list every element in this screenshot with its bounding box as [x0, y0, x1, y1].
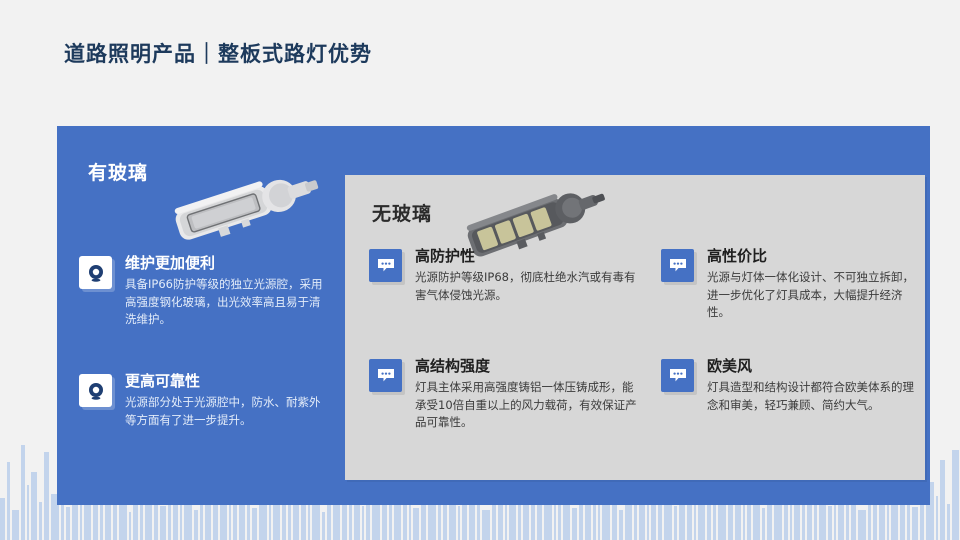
barcode-bar — [322, 512, 325, 540]
barcode-bar — [100, 504, 103, 540]
speech-bubble-icon — [661, 359, 694, 392]
barcode-bar — [194, 510, 198, 540]
feature-title: 高结构强度 — [415, 357, 644, 376]
barcode-bar — [713, 504, 716, 540]
feature-text: 高防护性 光源防护等级IP68，彻底杜绝水汽或有毒有害气体侵蚀光源。 — [415, 247, 637, 304]
barcode-bar — [518, 502, 521, 540]
barcode-bar — [858, 510, 866, 540]
barcode-bar — [389, 502, 392, 540]
feature-body: 光源部分处于光源腔中，防水、耐紫外等方面有了进一步提升。 — [125, 394, 329, 430]
location-ring-icon — [79, 374, 112, 407]
barcode-bar — [44, 452, 49, 540]
page-title: 道路照明产品｜整板式路灯优势 — [64, 38, 372, 68]
barcode-bar — [912, 507, 918, 540]
feature-body: 光源与灯体一体化设计、不可独立拆卸，进一步优化了灯具成本，大幅提升经济性。 — [707, 269, 921, 322]
barcode-bar — [544, 504, 552, 540]
feature-body: 具备IP66防护等级的独立光源腔，采用高强度钢化玻璃，出光效率高且易于清洗维护。 — [125, 276, 329, 329]
barcode-bar — [160, 506, 166, 540]
barcode-bar — [936, 496, 938, 540]
barcode-bar — [828, 506, 832, 540]
barcode-bar — [362, 506, 364, 540]
feature-text: 维护更加便利 具备IP66防护等级的独立光源腔，采用高强度钢化玻璃，出光效率高且… — [125, 254, 329, 329]
speech-bubble-icon — [369, 249, 402, 282]
barcode-bar — [273, 500, 280, 540]
feature-title: 欧美风 — [707, 357, 923, 376]
feature-card[interactable]: 高结构强度 灯具主体采用高强度铸铝一体压铸成形，能承受10倍自重以上的风力载荷，… — [369, 357, 644, 432]
left-column: 有玻璃 — [57, 126, 347, 505]
barcode-bar — [952, 450, 959, 540]
barcode-bar — [762, 508, 765, 540]
barcode-bar — [129, 512, 131, 540]
barcode-bar — [39, 502, 42, 540]
feature-body: 灯具主体采用高强度铸铝一体压铸成形，能承受10倍自重以上的风力载荷，有效保证产品… — [415, 379, 644, 432]
feature-card[interactable]: 维护更加便利 具备IP66防护等级的独立光源腔，采用高强度钢化玻璃，出光效率高且… — [79, 254, 329, 329]
barcode-bar — [21, 445, 25, 540]
barcode-bar — [0, 498, 5, 540]
feature-body: 光源防护等级IP68，彻底杜绝水汽或有毒有害气体侵蚀光源。 — [415, 269, 637, 305]
barcode-bar — [598, 500, 600, 540]
barcode-bar — [802, 502, 805, 540]
feature-title: 高性价比 — [707, 247, 921, 266]
comparison-panel: 有玻璃 — [57, 126, 930, 505]
barcode-bar — [301, 504, 306, 540]
barcode-bar — [7, 462, 10, 540]
feature-card[interactable]: 欧美风 灯具造型和结构设计都符合欧美体系的理念和审美，轻巧兼顾、简约大气。 — [661, 357, 923, 414]
feature-text: 欧美风 灯具造型和结构设计都符合欧美体系的理念和审美，轻巧兼顾、简约大气。 — [707, 357, 923, 414]
no-glass-panel: 无玻璃 — [345, 175, 925, 480]
barcode-bar — [31, 472, 37, 540]
barcode-bar — [229, 502, 231, 540]
barcode-bar — [413, 508, 419, 540]
street-lamp-with-glass-image — [157, 166, 327, 251]
location-ring-icon — [79, 256, 112, 289]
barcode-bar — [947, 504, 950, 540]
feature-card[interactable]: 高防护性 光源防护等级IP68，彻底杜绝水汽或有毒有害气体侵蚀光源。 — [369, 247, 637, 304]
right-section-label: 无玻璃 — [372, 199, 432, 226]
barcode-bar — [572, 508, 577, 540]
barcode-bar — [774, 500, 782, 540]
speech-bubble-icon — [369, 359, 402, 392]
feature-text: 更高可靠性 光源部分处于光源腔中，防水、耐紫外等方面有了进一步提升。 — [125, 372, 329, 429]
barcode-bar — [140, 500, 143, 540]
barcode-bar — [443, 500, 447, 540]
speech-bubble-icon — [661, 249, 694, 282]
barcode-bar — [458, 506, 460, 540]
feature-body: 灯具造型和结构设计都符合欧美体系的理念和审美，轻巧兼顾、简约大气。 — [707, 379, 923, 415]
feature-title: 高防护性 — [415, 247, 637, 266]
feature-title: 维护更加便利 — [125, 254, 329, 273]
feature-card[interactable]: 更高可靠性 光源部分处于光源腔中，防水、耐紫外等方面有了进一步提升。 — [79, 372, 329, 429]
barcode-bar — [252, 508, 257, 540]
barcode-bar — [12, 510, 19, 540]
barcode-bar — [887, 502, 889, 540]
left-section-label: 有玻璃 — [88, 158, 148, 185]
barcode-bar — [619, 510, 623, 540]
barcode-bar — [674, 506, 677, 540]
barcode-bar — [940, 460, 945, 540]
barcode-bar — [647, 502, 649, 540]
feature-text: 高结构强度 灯具主体采用高强度铸铝一体压铸成形，能承受10倍自重以上的风力载荷，… — [415, 357, 644, 432]
barcode-bar — [482, 510, 490, 540]
feature-card[interactable]: 高性价比 光源与灯体一体化设计、不可独立拆卸，进一步优化了灯具成本，大幅提升经济… — [661, 247, 921, 322]
feature-title: 更高可靠性 — [125, 372, 329, 391]
barcode-bar — [27, 485, 29, 540]
feature-text: 高性价比 光源与灯体一体化设计、不可独立拆卸，进一步优化了灯具成本，大幅提升经济… — [707, 247, 921, 322]
barcode-bar — [66, 507, 70, 540]
